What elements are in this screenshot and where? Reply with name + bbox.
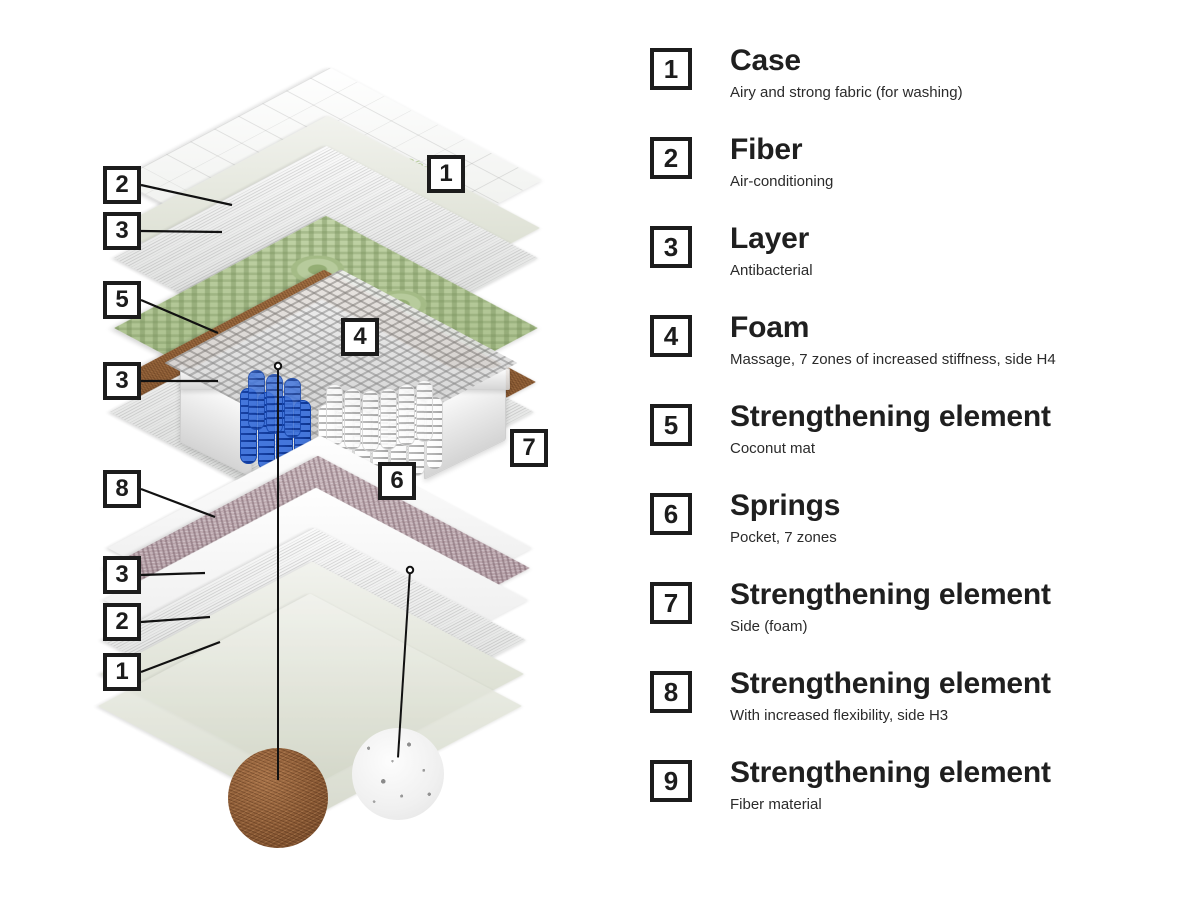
- inline-number-6: 6: [378, 462, 416, 500]
- legend-number-9: 9: [650, 760, 692, 802]
- legend-subtitle-4: Massage, 7 zones of increased stiffness,…: [730, 351, 1056, 368]
- legend-subtitle-5: Coconut mat: [730, 440, 815, 457]
- reinforcement-coil: [284, 378, 301, 438]
- callout-number-1-7: 1: [103, 653, 141, 691]
- legend-title-6: Springs: [730, 489, 840, 523]
- legend-number-6: 6: [650, 493, 692, 535]
- legend-number-8: 8: [650, 671, 692, 713]
- legend-subtitle-2: Air-conditioning: [730, 173, 833, 190]
- legend-title-3: Layer: [730, 222, 809, 256]
- legend-title-5: Strengthening element: [730, 400, 1051, 434]
- legend-item-9: 9Strengthening elementFiber material: [640, 760, 1200, 840]
- legend-item-4: 4FoamMassage, 7 zones of increased stiff…: [640, 315, 1200, 395]
- legend-subtitle-8: With increased flexibility, side H3: [730, 707, 948, 724]
- pocket-coil: [380, 388, 397, 450]
- legend-item-5: 5Strengthening elementCoconut mat: [640, 404, 1200, 484]
- legend-title-8: Strengthening element: [730, 667, 1051, 701]
- legend-title-4: Foam: [730, 311, 809, 345]
- callout-number-3-1: 3: [103, 212, 141, 250]
- legend-list: 1CaseAiry and strong fabric (for washing…: [640, 0, 1200, 900]
- pocket-coil: [362, 390, 379, 452]
- exploded-mattress-diagram: aloe vera aloe vera: [0, 0, 620, 900]
- legend-item-3: 3LayerAntibacterial: [640, 226, 1200, 306]
- callout-number-3-5: 3: [103, 556, 141, 594]
- legend-subtitle-3: Antibacterial: [730, 262, 813, 279]
- legend-number-3: 3: [650, 226, 692, 268]
- pocket-coil: [416, 380, 433, 442]
- legend-number-4: 4: [650, 315, 692, 357]
- callout-number-2-0: 2: [103, 166, 141, 204]
- legend-subtitle-9: Fiber material: [730, 796, 822, 813]
- legend-item-6: 6SpringsPocket, 7 zones: [640, 493, 1200, 573]
- legend-item-2: 2FiberAir-conditioning: [640, 137, 1200, 217]
- inline-number-4: 4: [341, 318, 379, 356]
- reinforcement-coil: [266, 374, 283, 434]
- pocket-coil: [398, 384, 415, 446]
- foam-sample: [352, 728, 444, 820]
- callout-number-2-6: 2: [103, 603, 141, 641]
- legend-item-7: 7Strengthening elementSide (foam): [640, 582, 1200, 662]
- pocket-coil: [326, 384, 343, 446]
- legend-item-8: 8Strengthening elementWith increased fle…: [640, 671, 1200, 751]
- callout-number-8-4: 8: [103, 470, 141, 508]
- legend-title-2: Fiber: [730, 133, 802, 167]
- legend-title-9: Strengthening element: [730, 756, 1051, 790]
- legend-subtitle-1: Airy and strong fabric (for washing): [730, 84, 963, 101]
- reinforcement-coil: [248, 370, 265, 430]
- legend-subtitle-6: Pocket, 7 zones: [730, 529, 837, 546]
- legend-title-1: Case: [730, 44, 801, 78]
- legend-item-1: 1CaseAiry and strong fabric (for washing…: [640, 48, 1200, 128]
- legend-number-2: 2: [650, 137, 692, 179]
- legend-number-1: 1: [650, 48, 692, 90]
- callout-number-3-3: 3: [103, 362, 141, 400]
- callout-number-5-2: 5: [103, 281, 141, 319]
- mattress-layers-infographic: aloe vera aloe vera: [0, 0, 1200, 900]
- coconut-coir-sample: [228, 748, 328, 848]
- legend-title-7: Strengthening element: [730, 578, 1051, 612]
- pocket-coil: [344, 388, 361, 450]
- legend-number-7: 7: [650, 582, 692, 624]
- inline-number-7: 7: [510, 429, 548, 467]
- inline-number-1: 1: [427, 155, 465, 193]
- legend-number-5: 5: [650, 404, 692, 446]
- legend-subtitle-7: Side (foam): [730, 618, 808, 635]
